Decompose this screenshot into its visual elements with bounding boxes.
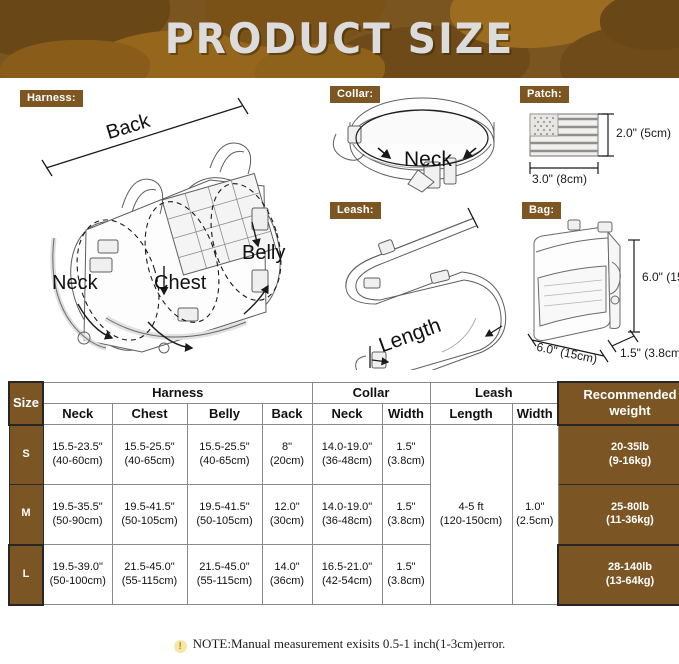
value-lb: 20-35lb — [611, 441, 649, 453]
size-table-container: Size Harness Collar Leash Recommended we… — [8, 381, 671, 606]
value-cm: (55-115cm) — [122, 575, 177, 587]
value-lb: 25-80lb — [611, 501, 649, 513]
value-cm: (36cm) — [270, 575, 304, 587]
cell-m-collar-width: 1.5" (3.8cm) — [382, 485, 430, 545]
page-header-banner: PRODUCT SIZE — [0, 0, 679, 78]
value-in: 19.5-41.5" — [199, 501, 249, 513]
value-cm: (40-65cm) — [124, 455, 174, 467]
cell-s-harness-belly: 15.5-25.5" (40-65cm) — [187, 425, 262, 485]
bag-diagram: Bag: — [516, 200, 676, 370]
value-in: 19.5-39.0" — [53, 561, 103, 573]
value-in: 15.5-23.5" — [52, 441, 102, 453]
value-cm: (3.8cm) — [387, 515, 424, 527]
row-size-l: L — [9, 545, 43, 605]
value-cm: (2.5cm) — [516, 515, 553, 527]
page-title: PRODUCT SIZE — [0, 0, 679, 78]
value-cm: (50-100cm) — [50, 575, 106, 587]
value-in: 21.5-45.0" — [124, 561, 174, 573]
bag-height-inches: 6.0" (15cm) — [642, 270, 679, 284]
cell-l-collar-width: 1.5" (3.8cm) — [382, 545, 430, 605]
harness-label-neck: Neck — [52, 272, 98, 295]
value-kg: (9-16kg) — [609, 455, 651, 467]
subheader-collar-width: Width — [382, 403, 430, 424]
value-cm: (42-54cm) — [322, 575, 372, 587]
value-in: 14.0" — [274, 561, 299, 573]
cell-s-collar-neck: 14.0-19.0" (36-48cm) — [312, 425, 382, 485]
cell-leash-length: 4-5 ft (120-150cm) — [430, 425, 512, 605]
harness-diagram: Harness: — [14, 90, 324, 370]
cell-m-weight: 25-80lb (11-36kg) — [558, 485, 679, 545]
product-diagrams: Harness: — [0, 78, 679, 374]
harness-tag: Harness: — [20, 90, 83, 107]
value-cm: (3.8cm) — [387, 455, 424, 467]
subheader-leash-width: Width — [512, 403, 558, 424]
cell-l-harness-back: 14.0" (36cm) — [262, 545, 312, 605]
header-size: Size — [9, 382, 43, 425]
cell-s-harness-back: 8" (20cm) — [262, 425, 312, 485]
value-in: 19.5-35.5" — [52, 501, 102, 513]
value-cm: (55-115cm) — [197, 575, 252, 587]
value-kg: (13-64kg) — [606, 575, 654, 587]
value-in: 1.5" — [396, 501, 415, 513]
value-in: 14.0-19.0" — [322, 501, 372, 513]
value-in: 19.5-41.5" — [124, 501, 174, 513]
cell-leash-width: 1.0" (2.5cm) — [512, 425, 558, 605]
value-cm: (36-48cm) — [322, 515, 372, 527]
row-size-m: M — [9, 485, 43, 545]
value-cm: (40-60cm) — [52, 455, 102, 467]
collar-illustration — [326, 86, 512, 202]
cell-m-harness-neck: 19.5-35.5" (50-90cm) — [43, 485, 112, 545]
cell-m-harness-back: 12.0" (30cm) — [262, 485, 312, 545]
subheader-harness-back: Back — [262, 403, 312, 424]
value-in: 16.5-21.0" — [322, 561, 372, 573]
collar-tag: Collar: — [330, 86, 380, 103]
value-in: 8" — [282, 441, 292, 453]
cell-s-weight: 20-35lb (9-16kg) — [558, 425, 679, 485]
harness-label-belly: Belly — [242, 242, 285, 265]
value-in: 4-5 ft — [458, 501, 483, 513]
value-cm: (30cm) — [270, 515, 304, 527]
bag-tag: Bag: — [522, 202, 561, 219]
header-recommended-line1: Recommended — [583, 387, 676, 402]
value-in: 12.0" — [274, 501, 299, 513]
value-cm: (50-105cm) — [121, 515, 177, 527]
table-row: S 15.5-23.5" (40-60cm) 15.5-25.5" (40-65… — [9, 425, 679, 485]
patch-diagram: Patch: — [516, 86, 676, 198]
bag-depth-label: 1.5" (3.8cm) — [620, 346, 679, 360]
subheader-collar-neck: Neck — [312, 403, 382, 424]
cell-s-harness-chest: 15.5-25.5" (40-65cm) — [112, 425, 187, 485]
warning-icon: ! — [174, 640, 187, 653]
value-cm: (3.8cm) — [387, 575, 424, 587]
measurement-note-text: NOTE:Manual measurement exisits 0.5-1 in… — [193, 636, 506, 651]
cell-s-collar-width: 1.5" (3.8cm) — [382, 425, 430, 485]
cell-l-harness-chest: 21.5-45.0" (55-115cm) — [112, 545, 187, 605]
cell-s-harness-neck: 15.5-23.5" (40-60cm) — [43, 425, 112, 485]
harness-label-chest: Chest — [154, 272, 206, 295]
value-cm: (50-90cm) — [52, 515, 102, 527]
cell-m-harness-chest: 19.5-41.5" (50-105cm) — [112, 485, 187, 545]
cell-l-harness-neck: 19.5-39.0" (50-100cm) — [43, 545, 112, 605]
patch-tag: Patch: — [520, 86, 569, 103]
cell-l-harness-belly: 21.5-45.0" (55-115cm) — [187, 545, 262, 605]
cell-m-collar-neck: 14.0-19.0" (36-48cm) — [312, 485, 382, 545]
value-in: 21.5-45.0" — [199, 561, 249, 573]
header-group-leash: Leash — [430, 382, 558, 403]
value-cm: (40-65cm) — [199, 455, 249, 467]
bag-height-label: 6.0" (15cm) — [642, 270, 679, 285]
cell-m-harness-belly: 19.5-41.5" (50-105cm) — [187, 485, 262, 545]
subheader-harness-belly: Belly — [187, 403, 262, 424]
value-cm: (20cm) — [270, 455, 304, 467]
harness-illustration — [14, 90, 324, 370]
header-group-harness: Harness — [43, 382, 312, 403]
table-row: M 19.5-35.5" (50-90cm) 19.5-41.5" (50-10… — [9, 485, 679, 545]
collar-label-neck: Neck — [404, 148, 452, 172]
header-recommended-weight: Recommended weight — [558, 382, 679, 425]
value-in: 15.5-25.5" — [124, 441, 174, 453]
cell-l-weight: 28-140lb (13-64kg) — [558, 545, 679, 605]
size-table: Size Harness Collar Leash Recommended we… — [8, 381, 679, 606]
value-cm: (36-48cm) — [322, 455, 372, 467]
patch-width-label: 3.0" (8cm) — [532, 172, 587, 186]
leash-tag: Leash: — [330, 202, 381, 219]
value-cm: (120-150cm) — [440, 515, 502, 527]
table-header-group-row: Size Harness Collar Leash Recommended we… — [9, 382, 679, 403]
patch-height-label: 2.0" (5cm) — [616, 126, 671, 140]
table-row: L 19.5-39.0" (50-100cm) 21.5-45.0" (55-1… — [9, 545, 679, 605]
cell-l-collar-neck: 16.5-21.0" (42-54cm) — [312, 545, 382, 605]
subheader-harness-neck: Neck — [43, 403, 112, 424]
value-in: 14.0-19.0" — [322, 441, 372, 453]
subheader-leash-length: Length — [430, 403, 512, 424]
collar-diagram: Collar: — [326, 86, 512, 202]
value-in: 1.5" — [396, 441, 415, 453]
value-kg: (11-36kg) — [606, 514, 654, 526]
header-recommended-line2: weight — [609, 403, 650, 418]
value-in: 15.5-25.5" — [199, 441, 249, 453]
value-cm: (50-105cm) — [196, 515, 252, 527]
leash-diagram: Leash: — [326, 200, 516, 370]
header-group-collar: Collar — [312, 382, 430, 403]
value-lb: 28-140lb — [608, 561, 652, 573]
row-size-s: S — [9, 425, 43, 485]
measurement-note: !NOTE:Manual measurement exisits 0.5-1 i… — [0, 636, 679, 653]
value-in: 1.5" — [396, 561, 415, 573]
subheader-harness-chest: Chest — [112, 403, 187, 424]
value-in: 1.0" — [525, 501, 544, 513]
